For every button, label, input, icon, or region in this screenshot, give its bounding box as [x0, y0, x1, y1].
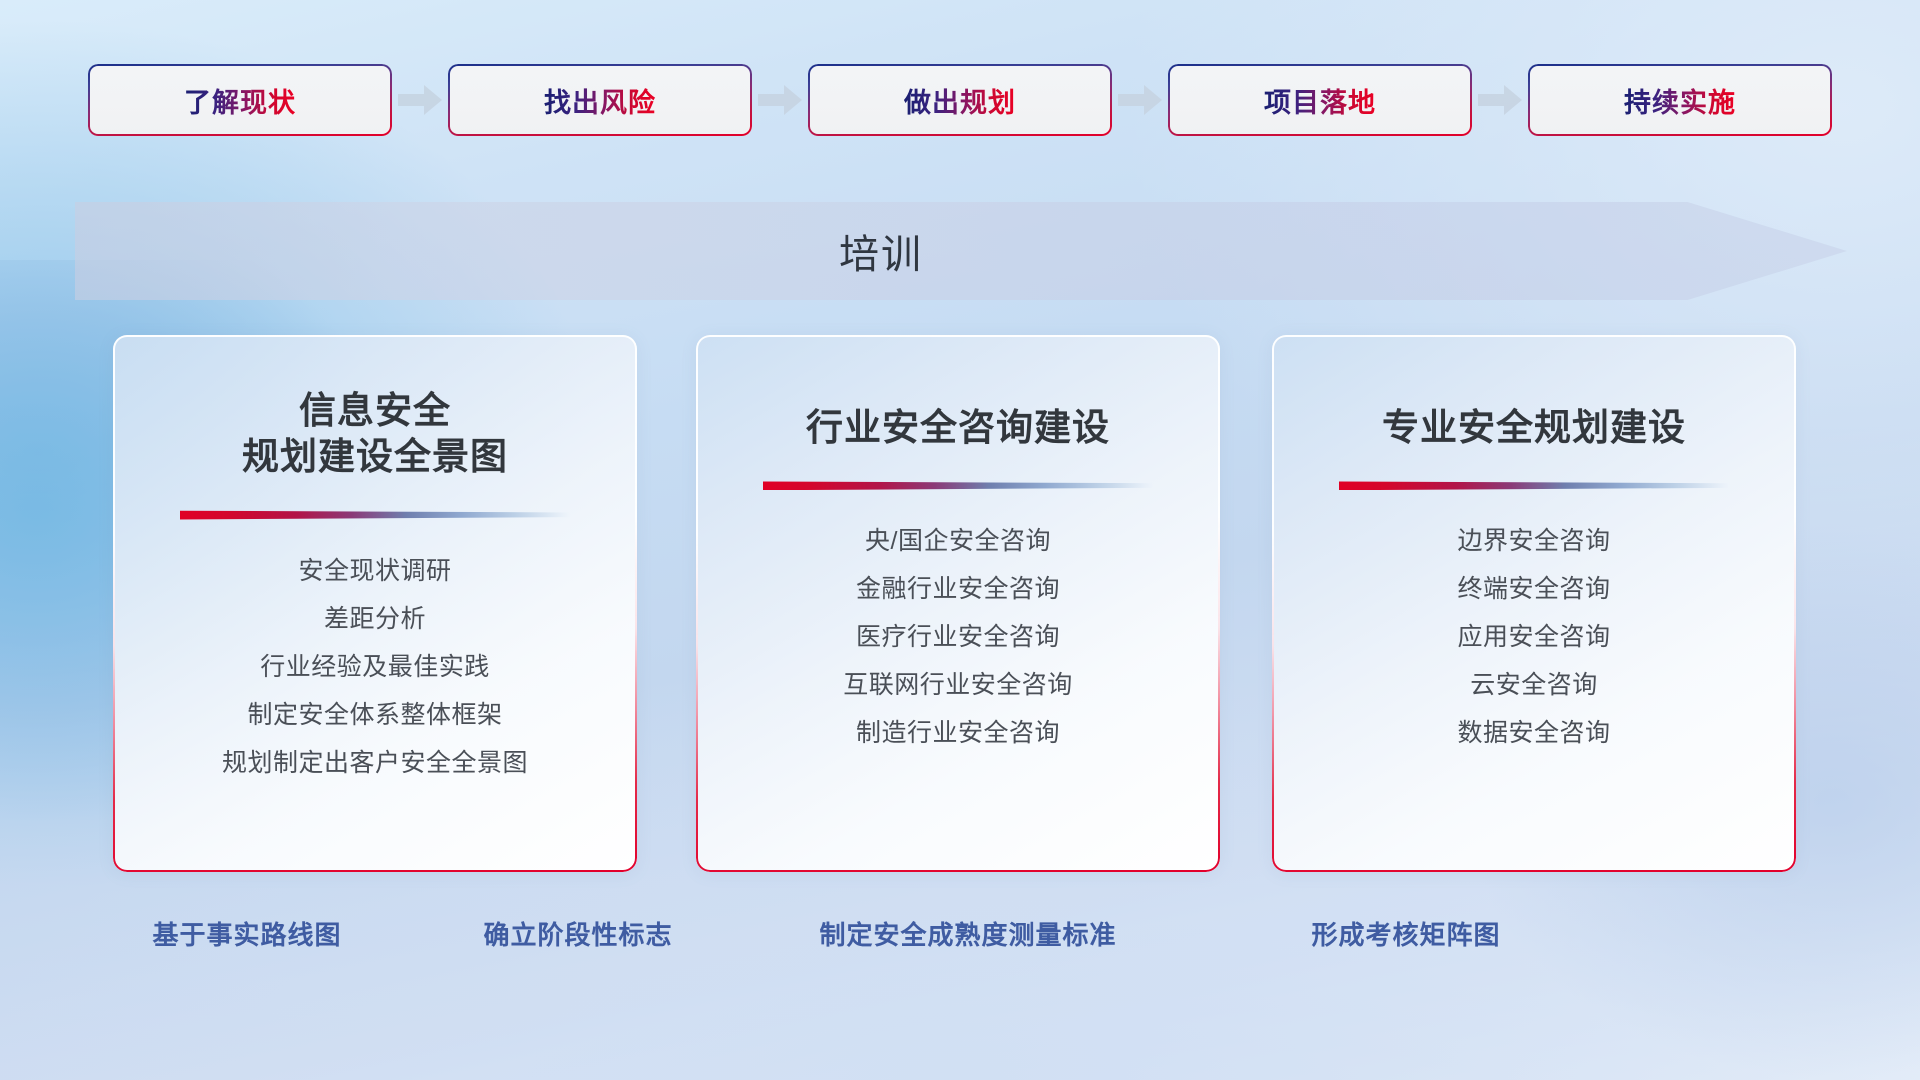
step-chip-label: 持续实施: [1624, 81, 1736, 120]
list-item: 差距分析: [324, 602, 426, 637]
arrow-right-icon: [398, 85, 442, 115]
captions-row: 基于事实路线图 确立阶段性标志 制定安全成熟度测量标准 形成考核矩阵图: [0, 915, 1920, 965]
list-item: 数据安全咨询: [1457, 716, 1610, 751]
step-chip-label: 做出规划: [904, 81, 1016, 120]
card-inner: 专业安全规划建设 边界安全咨询 终端安全咨询 应用安全咨询 云安全咨询 数据安全…: [1272, 335, 1796, 872]
arrow-right-icon: [758, 85, 802, 115]
step-chip-label: 项目落地: [1264, 81, 1376, 120]
card-title: 行业安全咨询建设: [806, 405, 1110, 451]
card-industry-security-consulting[interactable]: 行业安全咨询建设 央/国企安全咨询 金融行业安全咨询 医疗行业安全咨询 互联网行…: [696, 335, 1220, 872]
list-item: 行业经验及最佳实践: [260, 650, 490, 685]
step-chip-label: 找出风险: [544, 81, 656, 120]
card-inner: 信息安全 规划建设全景图 安全现状调研 差距分析 行业经验及最佳实践 制定安全体…: [113, 335, 637, 872]
banner-label: 培训: [75, 202, 1847, 300]
list-item: 终端安全咨询: [1457, 572, 1610, 607]
step-chip-4[interactable]: 项目落地: [1168, 64, 1472, 136]
card-info-security-blueprint[interactable]: 信息安全 规划建设全景图 安全现状调研 差距分析 行业经验及最佳实践 制定安全体…: [113, 335, 637, 872]
training-banner: 培训: [75, 202, 1847, 300]
caption-label: 形成考核矩阵图: [1311, 915, 1500, 952]
card-list: 安全现状调研 差距分析 行业经验及最佳实践 制定安全体系整体框架 规划制定出客户…: [141, 554, 609, 781]
arrow-right-icon: [1478, 85, 1522, 115]
list-item: 制造行业安全咨询: [856, 716, 1060, 751]
process-steps-row: 了解现状 找出风险 做出规划: [0, 60, 1920, 140]
card-inner: 行业安全咨询建设 央/国企安全咨询 金融行业安全咨询 医疗行业安全咨询 互联网行…: [696, 335, 1220, 872]
divider-bar: [180, 509, 570, 520]
caption-label: 制定安全成熟度测量标准: [819, 915, 1116, 952]
step-separator-4: [1472, 83, 1528, 117]
list-item: 规划制定出客户安全全景图: [222, 746, 528, 781]
step-chip-2[interactable]: 找出风险: [448, 64, 752, 136]
list-item: 央/国企安全咨询: [865, 524, 1051, 559]
card-divider: [1339, 479, 1729, 490]
card-professional-security-planning[interactable]: 专业安全规划建设 边界安全咨询 终端安全咨询 应用安全咨询 云安全咨询 数据安全…: [1272, 335, 1796, 872]
card-divider: [180, 509, 570, 520]
cards-row: 信息安全 规划建设全景图 安全现状调研 差距分析 行业经验及最佳实践 制定安全体…: [0, 335, 1920, 875]
list-item: 互联网行业安全咨询: [843, 668, 1073, 703]
card-divider: [763, 479, 1153, 490]
step-chip-3[interactable]: 做出规划: [808, 64, 1112, 136]
list-item: 制定安全体系整体框架: [247, 698, 502, 733]
step-chip-5[interactable]: 持续实施: [1528, 64, 1832, 136]
list-item: 云安全咨询: [1470, 668, 1598, 703]
step-separator-1: [392, 83, 448, 117]
divider-bar: [763, 479, 1153, 490]
list-item: 应用安全咨询: [1457, 620, 1610, 655]
list-item: 边界安全咨询: [1457, 524, 1610, 559]
caption-label: 基于事实路线图: [152, 915, 341, 952]
card-title: 专业安全规划建设: [1382, 405, 1686, 451]
step-chip-1[interactable]: 了解现状: [88, 64, 392, 136]
step-separator-2: [752, 83, 808, 117]
card-list: 边界安全咨询 终端安全咨询 应用安全咨询 云安全咨询 数据安全咨询: [1300, 524, 1768, 751]
card-title: 信息安全 规划建设全景图: [242, 388, 508, 481]
list-item: 金融行业安全咨询: [856, 572, 1060, 607]
step-chip-label: 了解现状: [184, 81, 296, 120]
card-list: 央/国企安全咨询 金融行业安全咨询 医疗行业安全咨询 互联网行业安全咨询 制造行…: [724, 524, 1192, 751]
list-item: 医疗行业安全咨询: [856, 620, 1060, 655]
divider-bar: [1339, 479, 1729, 490]
caption-label: 确立阶段性标志: [483, 915, 672, 952]
step-separator-3: [1112, 83, 1168, 117]
arrow-right-icon: [1118, 85, 1162, 115]
list-item: 安全现状调研: [298, 554, 451, 589]
slide-root: 了解现状 找出风险 做出规划: [0, 0, 1920, 1080]
